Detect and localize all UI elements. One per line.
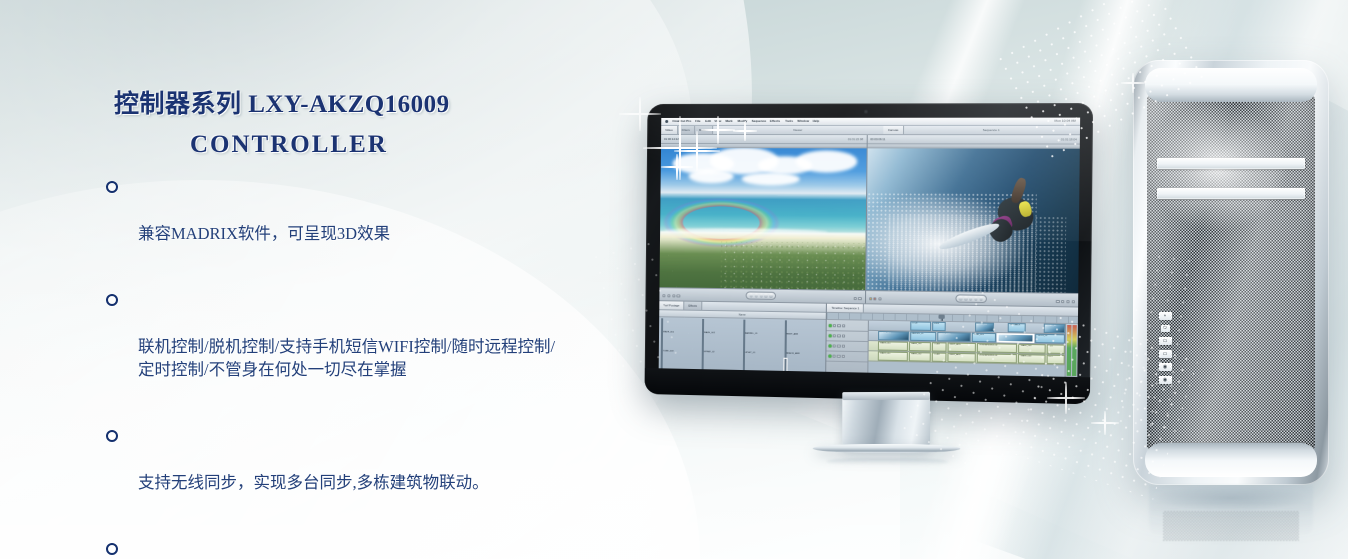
transport-prev-icon[interactable] bbox=[750, 294, 753, 297]
tab-filters[interactable]: Filters bbox=[678, 126, 695, 134]
viewer-timecode-right[interactable]: 01:01:22:08 bbox=[848, 137, 863, 141]
thumbnail-label: TUBE_003 bbox=[663, 350, 674, 352]
track-auto-icon[interactable] bbox=[842, 355, 846, 359]
thumbnail-label: BARREL_01 bbox=[745, 333, 758, 335]
surfer-figure bbox=[984, 180, 1049, 251]
lower-panes: Surf Footage Effects Name WAVE_001 WAVE_… bbox=[659, 300, 1078, 377]
firewire-icon[interactable]: ⑂ bbox=[1159, 312, 1172, 320]
table-row[interactable]: REEF_AER bbox=[937, 332, 970, 342]
recent-clips-icon[interactable] bbox=[1072, 300, 1075, 303]
power-button-icon[interactable]: ⏻ bbox=[1161, 325, 1170, 332]
track-visible-icon[interactable] bbox=[837, 324, 841, 328]
usb-port-icon[interactable]: ▭ bbox=[1159, 337, 1172, 345]
viewer-image-area bbox=[659, 144, 866, 303]
page-title-en: CONTROLLER bbox=[190, 131, 620, 159]
audio-meter-left bbox=[1067, 325, 1072, 376]
keyframe-icon[interactable] bbox=[1066, 300, 1069, 303]
tower-io-panel[interactable]: ⑂ ⏻ ▭ ▭ ◉ ◉ bbox=[1157, 312, 1173, 384]
list-item[interactable]: SUNSET_01 bbox=[784, 360, 824, 372]
zoom-tool-icon[interactable] bbox=[662, 294, 665, 297]
menu-item-help[interactable]: Help bbox=[813, 120, 820, 123]
menu-item-mark[interactable]: Mark bbox=[726, 120, 733, 123]
list-item[interactable]: SPRAY_02 bbox=[702, 339, 741, 357]
filter-toggle-icon[interactable] bbox=[677, 294, 680, 297]
table-row[interactable]: WAVE_001 bbox=[878, 341, 908, 351]
table-row[interactable]: CUTBACK bbox=[1008, 323, 1026, 333]
list-item[interactable]: WAVE_001 bbox=[661, 319, 700, 337]
thumbnail-label: SPRAY_02 bbox=[704, 351, 715, 353]
table-row[interactable]: TITLE bbox=[910, 321, 931, 331]
edit-overwrite-icon[interactable] bbox=[1056, 300, 1059, 303]
track-control-row[interactable] bbox=[827, 351, 868, 362]
menu-item-sequence[interactable]: Sequence bbox=[751, 120, 766, 123]
browser-panel[interactable]: Surf Footage Effects Name WAVE_001 WAVE_… bbox=[659, 301, 828, 372]
list-item[interactable]: TUBE_003 bbox=[661, 338, 700, 356]
table-row[interactable]: LIPHIT_01 bbox=[975, 322, 995, 332]
tab-effects[interactable]: Effects bbox=[684, 302, 702, 310]
view-mode-icon[interactable] bbox=[878, 297, 881, 300]
tower-chassis: ⑂ ⏻ ▭ ▭ ◉ ◉ bbox=[1133, 60, 1329, 485]
track-lock-icon[interactable] bbox=[832, 334, 836, 338]
table-row[interactable]: WAVE_001 bbox=[878, 351, 908, 361]
ring-bullet-icon bbox=[106, 181, 118, 193]
viewer-panel[interactable]: 01:00:14:22 01:01:22:08 bbox=[659, 135, 867, 303]
list-item[interactable]: BEACH_AER bbox=[784, 341, 824, 359]
canvas-transport-buttons[interactable] bbox=[955, 295, 986, 303]
surfer-wave-image bbox=[865, 144, 1079, 306]
track-enable-led[interactable] bbox=[829, 334, 832, 337]
track-mute-icon[interactable] bbox=[832, 344, 836, 348]
canvas-header: 00:00:06:11 01:01:18:04 bbox=[867, 135, 1080, 144]
list-item[interactable]: BARREL_01 bbox=[743, 321, 783, 339]
canvas-left-tools[interactable] bbox=[869, 297, 882, 300]
transport-prev-icon[interactable] bbox=[959, 297, 963, 301]
track-solo-icon[interactable] bbox=[837, 344, 841, 348]
viewer-pane-title: Viewer bbox=[713, 126, 884, 134]
stand-neck bbox=[842, 392, 930, 448]
table-row[interactable]: DUCK_02 bbox=[1036, 334, 1065, 344]
list-item: 支持无线同步，实现多台同步,多栋建筑物联动。 bbox=[106, 425, 780, 517]
track-solo-icon[interactable] bbox=[837, 355, 841, 359]
table-row[interactable]: REEF_AER bbox=[947, 343, 975, 353]
ring-bullet-icon bbox=[106, 543, 118, 555]
ring-bullet-icon bbox=[106, 430, 118, 442]
transport-next-icon[interactable] bbox=[759, 294, 762, 297]
stand-reflection bbox=[826, 458, 948, 465]
tab-motion[interactable]: Motion bbox=[695, 126, 713, 134]
timeline-panel[interactable]: Timeline: Sequence 1 bbox=[827, 304, 1078, 377]
track-auto-icon[interactable] bbox=[842, 344, 846, 348]
track-lock-icon[interactable] bbox=[833, 324, 837, 328]
table-row[interactable]: WAVE_002 bbox=[909, 352, 931, 362]
stand-base bbox=[813, 444, 961, 453]
table-row[interactable]: DISS bbox=[932, 322, 946, 331]
tab-timeline-sequence[interactable]: Timeline: Sequence 1 bbox=[827, 304, 864, 313]
track-controls-gutter[interactable] bbox=[827, 320, 869, 373]
canvas-timecode[interactable]: 00:00:06:11 bbox=[870, 137, 885, 141]
viewer-scrubber[interactable] bbox=[661, 144, 866, 148]
display-screen: Final Cut Pro File Edit View Mark Modify… bbox=[659, 118, 1080, 377]
optical-drive-slot-2[interactable] bbox=[1157, 188, 1305, 199]
track-auto-icon[interactable] bbox=[842, 334, 846, 338]
menu-item-view[interactable]: View bbox=[715, 120, 722, 123]
track-control-row[interactable] bbox=[827, 321, 868, 332]
transport-loop-icon[interactable] bbox=[974, 297, 978, 301]
table-row[interactable]: TUBE_003 bbox=[971, 333, 996, 343]
table-row[interactable]: TUBE bbox=[932, 342, 946, 351]
timeline-tracks[interactable]: TITLE DISS LIPHIT_01 CUTBACK SPRAY_02 bbox=[869, 321, 1066, 377]
beach-rainbow-image bbox=[659, 144, 866, 303]
ring-bullet-icon bbox=[106, 294, 118, 306]
tower-reflection-mesh bbox=[1163, 511, 1299, 541]
audio-in-icon[interactable]: ◉ bbox=[1159, 376, 1172, 384]
menu-item-edit[interactable]: Edit bbox=[705, 120, 711, 123]
desktop-display: Final Cut Pro File Edit View Mark Modify… bbox=[644, 103, 1093, 404]
canvas-scrubber[interactable] bbox=[867, 144, 1080, 148]
menu-item-tools[interactable]: Tools bbox=[785, 120, 793, 123]
title-safe-icon[interactable] bbox=[672, 294, 675, 297]
track-control-row[interactable] bbox=[827, 331, 868, 342]
track-enable-led[interactable] bbox=[829, 324, 832, 327]
track-enable-led[interactable] bbox=[828, 345, 831, 348]
headphone-jack-icon[interactable]: ◉ bbox=[1159, 363, 1172, 371]
transport-loop-icon[interactable] bbox=[764, 294, 767, 297]
thumbnail-label: LIPHIT_01 bbox=[745, 352, 756, 354]
usb-port-icon[interactable]: ▭ bbox=[1159, 350, 1172, 358]
table-row[interactable]: OceanAmbience.aif bbox=[977, 353, 1018, 363]
keyframe-icon[interactable] bbox=[853, 297, 856, 300]
canvas-pane-title: Sequence 1 bbox=[903, 126, 1080, 134]
canvas-image-area bbox=[865, 144, 1079, 306]
viewer-right-tools[interactable] bbox=[853, 297, 861, 300]
browser-thumbnail-grid[interactable]: WAVE_001 WAVE_002 BARREL_01 REEF_AER TUB… bbox=[659, 317, 827, 372]
display-bezel: Final Cut Pro File Edit View Mark Modify… bbox=[644, 103, 1093, 404]
banner-canvas: 控制器系列 LXY-AKZQ16009 CONTROLLER 兼容MADRIX软… bbox=[0, 0, 1348, 559]
list-item[interactable]: WAVE_002 bbox=[702, 320, 741, 338]
track-enable-led[interactable] bbox=[828, 355, 831, 358]
desktop-tower: ⑂ ⏻ ▭ ▭ ◉ ◉ bbox=[1133, 60, 1329, 485]
table-row[interactable]: OceanAmbience.aif bbox=[977, 343, 1018, 353]
transport-play-icon[interactable] bbox=[754, 294, 757, 297]
title-block: 控制器系列 LXY-AKZQ16009 CONTROLLER bbox=[0, 84, 620, 159]
page-title-cn: 控制器系列 LXY-AKZQ16009 bbox=[114, 84, 620, 120]
menu-item-file[interactable]: File bbox=[695, 120, 700, 123]
tower-bottom-cap bbox=[1145, 443, 1317, 477]
marker-yellow-icon[interactable] bbox=[869, 297, 872, 300]
transport-play-icon[interactable] bbox=[964, 297, 968, 301]
viewer-left-tools[interactable] bbox=[662, 294, 680, 297]
table-row[interactable]: SUNSET_01 bbox=[997, 333, 1034, 343]
list-item[interactable]: REEF_AER bbox=[784, 321, 824, 339]
viewer-timecode[interactable]: 01:00:14:22 bbox=[664, 137, 679, 141]
list-item: TCP/IP协议通信 bbox=[106, 538, 780, 559]
menu-item-modify[interactable]: Modify bbox=[737, 120, 747, 123]
transport-mark-icon[interactable] bbox=[979, 297, 983, 301]
viewer-row: 01:00:14:22 01:01:22:08 bbox=[659, 135, 1080, 306]
audio-meter-right bbox=[1072, 325, 1077, 376]
beach-sand-strip bbox=[660, 231, 865, 239]
track-visible-icon[interactable] bbox=[837, 334, 841, 338]
table-row[interactable]: WAVE_001 bbox=[878, 331, 909, 341]
app-menubar[interactable]: Final Cut Pro File Edit View Mark Modify… bbox=[661, 118, 1080, 126]
thumbnail-label: REEF_AER bbox=[786, 333, 798, 335]
four-point-star-sparkles bbox=[1090, 408, 1120, 438]
canvas-panel[interactable]: 00:00:06:11 01:01:18:04 bbox=[865, 135, 1079, 306]
camera-icon bbox=[864, 110, 868, 114]
canvas-right-tools[interactable] bbox=[1056, 300, 1075, 304]
thumbnail-label: WAVE_002 bbox=[704, 332, 715, 334]
edit-insert-icon[interactable] bbox=[1061, 300, 1064, 303]
playhead[interactable] bbox=[941, 315, 942, 321]
table-row[interactable]: WAVE_003 bbox=[1018, 354, 1045, 364]
recent-clips-icon[interactable] bbox=[858, 297, 861, 300]
transport-next-icon[interactable] bbox=[969, 297, 973, 301]
marker-red-icon[interactable] bbox=[874, 297, 877, 300]
table-row[interactable]: TUBE bbox=[932, 352, 946, 362]
menu-item-app[interactable]: Final Cut Pro bbox=[672, 120, 691, 123]
track-mute-icon[interactable] bbox=[832, 354, 836, 358]
list-item[interactable]: LIPHIT_01 bbox=[743, 340, 783, 358]
viewer-header: 01:00:14:22 01:01:22:08 bbox=[661, 135, 866, 144]
tower-mesh-grille bbox=[1147, 96, 1315, 449]
menu-item-effects[interactable]: Effects bbox=[770, 120, 780, 123]
timeline-body: TITLE DISS LIPHIT_01 CUTBACK SPRAY_02 bbox=[827, 320, 1078, 377]
list-item-label: 支持无线同步，实现多台同步,多栋建筑物联动。 bbox=[138, 471, 780, 494]
table-row[interactable]: OUT bbox=[1046, 355, 1065, 365]
canvas-timecode-right[interactable]: 01:01:18:04 bbox=[1061, 137, 1077, 141]
table-row[interactable]: WAVE_003 bbox=[1018, 344, 1045, 354]
tab-surf-footage[interactable]: Surf Footage bbox=[659, 301, 684, 309]
thumbnail-label: WAVE_001 bbox=[663, 331, 674, 333]
pane-title-bar: Video Filters Motion Viewer Canvas Seque… bbox=[661, 126, 1080, 135]
view-mode-icon[interactable] bbox=[667, 294, 670, 297]
track-auto-icon[interactable] bbox=[842, 324, 846, 328]
tab-canvas[interactable]: Canvas bbox=[884, 126, 904, 134]
table-row[interactable]: BARREL_01 bbox=[910, 332, 937, 342]
table-row[interactable]: OUT bbox=[1046, 344, 1065, 354]
viewer-transport-buttons[interactable] bbox=[746, 292, 776, 300]
tab-video[interactable]: Video bbox=[661, 126, 678, 134]
menu-item-window[interactable]: Window bbox=[797, 120, 809, 123]
apple-logo-icon[interactable] bbox=[665, 120, 668, 123]
marketing-copy: 控制器系列 LXY-AKZQ16009 CONTROLLER 兼容MADRIX软… bbox=[0, 0, 660, 559]
table-row[interactable]: WAVE_002 bbox=[909, 342, 931, 352]
transport-mark-icon[interactable] bbox=[769, 294, 772, 297]
thumbnail-label: BEACH_AER bbox=[786, 353, 800, 355]
menubar-clock[interactable]: Mon 10:04 AM bbox=[1055, 120, 1076, 123]
tower-top-cap bbox=[1145, 68, 1317, 102]
audio-meters bbox=[1065, 324, 1078, 377]
table-row[interactable]: REEF_AER bbox=[947, 353, 975, 363]
display-stand bbox=[801, 392, 960, 471]
table-row[interactable]: SPRAY_02 bbox=[1043, 324, 1065, 334]
optical-drive-slot-1[interactable] bbox=[1157, 158, 1305, 169]
